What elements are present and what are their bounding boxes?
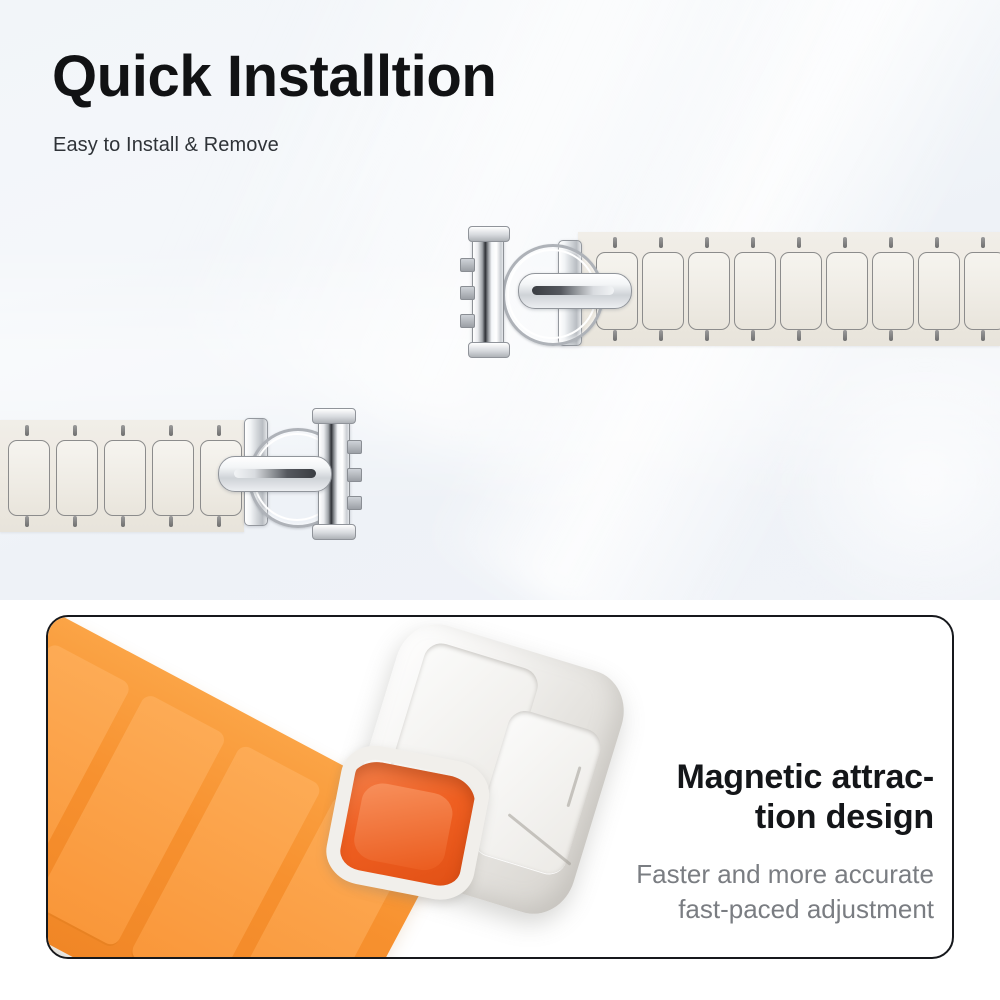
connector-tab bbox=[460, 314, 475, 328]
top-section: Quick Installtion Easy to Install & Remo… bbox=[0, 0, 1000, 600]
band-segment-tick bbox=[843, 330, 847, 341]
feature-title-line-2: tion design bbox=[504, 797, 934, 837]
band-segment-tick bbox=[121, 516, 125, 527]
connector-pin-slot bbox=[234, 469, 316, 478]
feature-description: Faster and more accurate fast-paced adju… bbox=[504, 857, 934, 927]
connector-tab bbox=[460, 286, 475, 300]
band-segment-tick bbox=[217, 516, 221, 527]
band-segment-tick bbox=[935, 330, 939, 341]
band-segment-tick bbox=[705, 237, 709, 248]
band-segment bbox=[826, 252, 868, 330]
band-segment-tick bbox=[659, 330, 663, 341]
band-segment-tick bbox=[843, 237, 847, 248]
connector-cap bbox=[468, 342, 510, 358]
band-segment bbox=[872, 252, 914, 330]
band-segment-tick bbox=[935, 237, 939, 248]
band-segment-tick bbox=[613, 330, 617, 341]
feature-title-line-1: Magnetic attrac- bbox=[504, 757, 934, 797]
band-segment-tick bbox=[981, 237, 985, 248]
band-segment bbox=[918, 252, 960, 330]
band-segment bbox=[642, 252, 684, 330]
band-segment-tick bbox=[217, 425, 221, 436]
connector-cap bbox=[468, 226, 510, 242]
band-segment bbox=[688, 252, 730, 330]
connector-tab bbox=[347, 468, 362, 482]
band-segment-tick bbox=[25, 425, 29, 436]
band-segment-tick bbox=[889, 237, 893, 248]
feature-description-line-1: Faster and more accurate bbox=[504, 857, 934, 892]
band-segment bbox=[780, 252, 822, 330]
band-segment-tick bbox=[797, 237, 801, 248]
band-segment bbox=[8, 440, 50, 516]
connector-tab bbox=[347, 496, 362, 510]
band-segment-tick bbox=[751, 330, 755, 341]
connector-lug-plate bbox=[472, 232, 504, 352]
band-segment-tick bbox=[751, 237, 755, 248]
band-segment bbox=[734, 252, 776, 330]
band-segment-tick bbox=[121, 425, 125, 436]
band-segment-tick bbox=[889, 330, 893, 341]
connector-pin-slot bbox=[532, 286, 614, 295]
band-segment-tick bbox=[613, 237, 617, 248]
clasp-rim bbox=[321, 740, 495, 906]
page-title: Quick Installtion bbox=[52, 48, 496, 106]
band-segment bbox=[152, 440, 194, 516]
band-segment-tick bbox=[659, 237, 663, 248]
band-segment-tick bbox=[73, 425, 77, 436]
band-segment-tick bbox=[169, 516, 173, 527]
band-segment-tick bbox=[797, 330, 801, 341]
product-marketing-image: Quick Installtion Easy to Install & Remo… bbox=[0, 0, 1000, 1000]
connector-tab bbox=[460, 258, 475, 272]
connector-tab bbox=[347, 440, 362, 454]
band-segment bbox=[964, 252, 1000, 330]
feature-title: Magnetic attrac- tion design bbox=[504, 757, 934, 837]
connector-cap bbox=[312, 524, 356, 540]
band-segment-tick bbox=[705, 330, 709, 341]
bottom-section: Magnetic attrac- tion design Faster and … bbox=[0, 600, 1000, 1000]
band-segment-tick bbox=[73, 516, 77, 527]
connector-cap bbox=[312, 408, 356, 424]
band-segment-tick bbox=[981, 330, 985, 341]
light-glow-decoration bbox=[760, 330, 1000, 600]
page-subtitle: Easy to Install & Remove bbox=[53, 134, 279, 157]
band-segment bbox=[104, 440, 146, 516]
band-segment-tick bbox=[169, 425, 173, 436]
feature-description-line-2: fast-paced adjustment bbox=[504, 892, 934, 927]
band-segment bbox=[56, 440, 98, 516]
feature-photo-panel: Magnetic attrac- tion design Faster and … bbox=[46, 615, 954, 959]
band-segment-tick bbox=[25, 516, 29, 527]
